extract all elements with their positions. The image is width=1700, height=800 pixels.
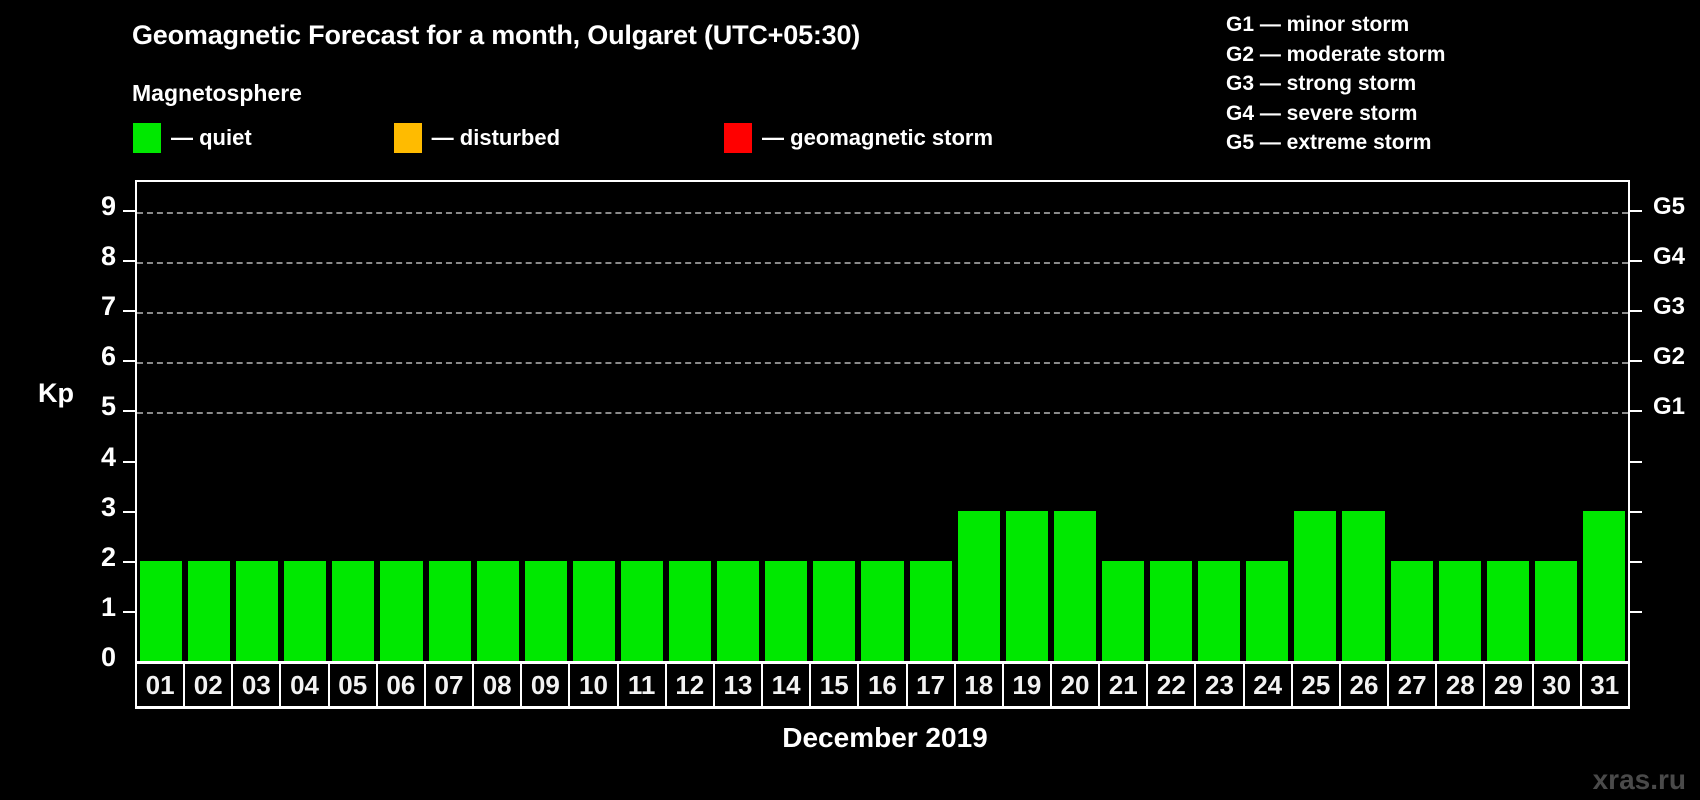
bar-day-29 bbox=[1487, 561, 1529, 661]
storm-scale-row-g1: G1 — minor storm bbox=[1226, 10, 1445, 40]
y-axis-title: Kp bbox=[38, 378, 74, 409]
bar-day-15 bbox=[813, 561, 855, 661]
legend-entry-quiet: — quiet bbox=[133, 122, 252, 154]
storm-scale-legend: G1 — minor stormG2 — moderate stormG3 — … bbox=[1226, 10, 1445, 158]
y-tick-right-6 bbox=[1630, 360, 1642, 362]
day-label-01: 01 bbox=[135, 664, 185, 706]
bar-day-19 bbox=[1006, 511, 1048, 661]
bar-day-13 bbox=[717, 561, 759, 661]
y-axis-label-6: 6 bbox=[76, 341, 116, 372]
bar-day-10 bbox=[573, 561, 615, 661]
bar-day-08 bbox=[477, 561, 519, 661]
y-tick-4 bbox=[123, 461, 135, 463]
bar-day-22 bbox=[1150, 561, 1192, 661]
y-tick-right-1 bbox=[1630, 611, 1642, 613]
y-axis-label-7: 7 bbox=[76, 291, 116, 322]
storm-scale-row-g3: G3 — strong storm bbox=[1226, 69, 1445, 99]
bar-day-28 bbox=[1439, 561, 1481, 661]
bar-day-05 bbox=[332, 561, 374, 661]
bar-day-26 bbox=[1342, 511, 1384, 661]
bar-day-25 bbox=[1294, 511, 1336, 661]
watermark: xras.ru bbox=[1593, 764, 1686, 796]
x-axis-title: December 2019 bbox=[0, 722, 1700, 754]
y-tick-right-8 bbox=[1630, 260, 1642, 262]
y-tick-6 bbox=[123, 360, 135, 362]
y-tick-right-7 bbox=[1630, 310, 1642, 312]
y-axis-label-9: 9 bbox=[76, 191, 116, 222]
storm-scale-row-g2: G2 — moderate storm bbox=[1226, 40, 1445, 70]
bar-day-20 bbox=[1054, 511, 1096, 661]
g-scale-label-g1: G1 bbox=[1653, 393, 1685, 421]
y-axis-label-8: 8 bbox=[76, 241, 116, 272]
y-tick-right-9 bbox=[1630, 210, 1642, 212]
day-label-24: 24 bbox=[1245, 664, 1293, 706]
day-label-31: 31 bbox=[1582, 664, 1630, 706]
day-label-06: 06 bbox=[378, 664, 426, 706]
y-tick-right-5 bbox=[1630, 410, 1642, 412]
bar-day-21 bbox=[1102, 561, 1144, 661]
g-scale-label-g5: G5 bbox=[1653, 193, 1685, 221]
day-label-02: 02 bbox=[185, 664, 233, 706]
bar-day-12 bbox=[669, 561, 711, 661]
day-label-27: 27 bbox=[1389, 664, 1437, 706]
storm-scale-row-g5: G5 — extreme storm bbox=[1226, 128, 1445, 158]
legend-entry-disturbed: — disturbed bbox=[394, 122, 560, 154]
day-label-25: 25 bbox=[1293, 664, 1341, 706]
g-scale-label-g2: G2 bbox=[1653, 343, 1685, 371]
condition-legend: — quiet— disturbed— geomagnetic storm bbox=[133, 122, 993, 154]
y-tick-right-4 bbox=[1630, 461, 1642, 463]
bar-day-09 bbox=[525, 561, 567, 661]
storm-scale-row-g4: G4 — severe storm bbox=[1226, 99, 1445, 129]
y-tick-3 bbox=[123, 511, 135, 513]
legend-label: — disturbed bbox=[432, 127, 560, 149]
day-label-30: 30 bbox=[1534, 664, 1582, 706]
bar-day-23 bbox=[1198, 561, 1240, 661]
legend-label: — geomagnetic storm bbox=[762, 127, 993, 149]
y-axis-label-4: 4 bbox=[76, 442, 116, 473]
page-title: Geomagnetic Forecast for a month, Oulgar… bbox=[132, 20, 860, 51]
day-label-20: 20 bbox=[1052, 664, 1100, 706]
day-label-21: 21 bbox=[1100, 664, 1148, 706]
day-label-04: 04 bbox=[281, 664, 329, 706]
y-axis-label-1: 1 bbox=[76, 592, 116, 623]
y-tick-8 bbox=[123, 260, 135, 262]
bar-day-17 bbox=[910, 561, 952, 661]
bar-series bbox=[137, 180, 1628, 661]
day-label-03: 03 bbox=[233, 664, 281, 706]
y-axis-label-3: 3 bbox=[76, 492, 116, 523]
bar-day-02 bbox=[188, 561, 230, 661]
day-label-14: 14 bbox=[763, 664, 811, 706]
bar-day-18 bbox=[958, 511, 1000, 661]
bar-day-14 bbox=[765, 561, 807, 661]
y-tick-right-3 bbox=[1630, 511, 1642, 513]
bar-day-27 bbox=[1391, 561, 1433, 661]
day-label-07: 07 bbox=[426, 664, 474, 706]
y-tick-9 bbox=[123, 210, 135, 212]
day-label-16: 16 bbox=[859, 664, 907, 706]
day-label-09: 09 bbox=[522, 664, 570, 706]
disturbed-swatch bbox=[394, 123, 422, 153]
day-label-18: 18 bbox=[956, 664, 1004, 706]
y-tick-7 bbox=[123, 310, 135, 312]
bar-day-24 bbox=[1246, 561, 1288, 661]
bar-day-03 bbox=[236, 561, 278, 661]
day-label-28: 28 bbox=[1437, 664, 1485, 706]
bar-day-16 bbox=[861, 561, 903, 661]
g-scale-label-g4: G4 bbox=[1653, 243, 1685, 271]
day-label-17: 17 bbox=[908, 664, 956, 706]
quiet-swatch bbox=[133, 123, 161, 153]
legend-entry-geomagneticstorm: — geomagnetic storm bbox=[724, 122, 993, 154]
bar-day-06 bbox=[380, 561, 422, 661]
y-tick-1 bbox=[123, 611, 135, 613]
day-label-08: 08 bbox=[474, 664, 522, 706]
y-axis-label-2: 2 bbox=[76, 542, 116, 573]
y-tick-5 bbox=[123, 410, 135, 412]
day-axis: 0102030405060708091011121314151617181920… bbox=[135, 661, 1630, 709]
bar-day-31 bbox=[1583, 511, 1625, 661]
day-label-11: 11 bbox=[619, 664, 667, 706]
day-label-13: 13 bbox=[715, 664, 763, 706]
y-axis-label-5: 5 bbox=[76, 391, 116, 422]
bar-day-04 bbox=[284, 561, 326, 661]
day-label-29: 29 bbox=[1485, 664, 1533, 706]
day-label-19: 19 bbox=[1004, 664, 1052, 706]
bar-day-30 bbox=[1535, 561, 1577, 661]
legend-label: — quiet bbox=[171, 127, 252, 149]
day-label-23: 23 bbox=[1196, 664, 1244, 706]
day-label-10: 10 bbox=[570, 664, 618, 706]
magnetosphere-label: Magnetosphere bbox=[132, 80, 302, 107]
day-label-26: 26 bbox=[1341, 664, 1389, 706]
bar-day-11 bbox=[621, 561, 663, 661]
bar-day-07 bbox=[429, 561, 471, 661]
day-label-05: 05 bbox=[330, 664, 378, 706]
day-label-12: 12 bbox=[667, 664, 715, 706]
day-label-22: 22 bbox=[1148, 664, 1196, 706]
y-axis-label-0: 0 bbox=[76, 642, 116, 673]
storm-swatch bbox=[724, 123, 752, 153]
y-tick-2 bbox=[123, 561, 135, 563]
day-label-15: 15 bbox=[811, 664, 859, 706]
y-tick-right-2 bbox=[1630, 561, 1642, 563]
g-scale-label-g3: G3 bbox=[1653, 293, 1685, 321]
bar-day-01 bbox=[140, 561, 182, 661]
